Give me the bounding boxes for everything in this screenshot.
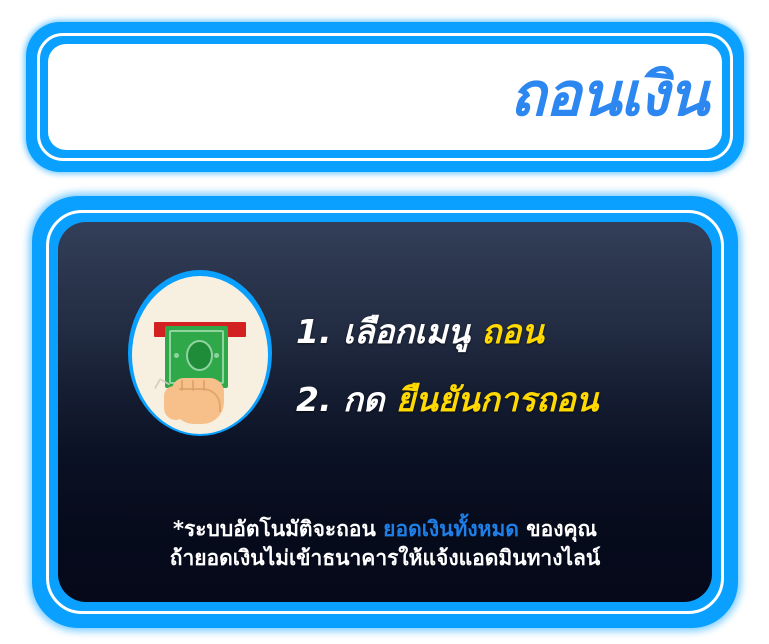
steps-list: 1. เลือกเมนู ถอน 2. กด ยืนยันการถอน <box>296 314 692 419</box>
step-item-1: 1. เลือกเมนู ถอน <box>296 314 692 350</box>
step-item-2: 2. กด ยืนยันการถอน <box>296 382 692 418</box>
footnote-line-1: *ระบบอัตโนมัติจะถอน ยอดเงินทั้งหมด ของคุ… <box>58 515 712 543</box>
page-title: ถอนเงิน <box>510 65 708 125</box>
icon-disc <box>132 276 268 434</box>
footnote: *ระบบอัตโนมัติจะถอน ยอดเงินทั้งหมด ของคุ… <box>58 515 712 572</box>
footnote-suffix: ของคุณ <box>526 517 597 541</box>
step-2-highlight: ยืนยันการถอน <box>396 380 598 419</box>
step-2-text: กด <box>343 380 384 419</box>
atm-cash-withdraw-icon <box>128 270 272 436</box>
instructions-card: 1. เลือกเมนู ถอน 2. กด ยืนยันการถอน *ระบ… <box>32 196 738 628</box>
banknote-dot-right <box>214 353 219 358</box>
palm-curve <box>179 388 221 412</box>
header-banner: ถอนเงิน <box>26 22 744 172</box>
step-1-highlight: ถอน <box>481 312 543 351</box>
header-title-field: ถอนเงิน <box>48 44 722 150</box>
footnote-line-2: ถ้ายอดเงินไม่เข้าธนาคารให้แจ้งแอดมินทางไ… <box>58 544 712 572</box>
step-1-number: 1. <box>296 312 332 351</box>
footnote-prefix: *ระบบอัตโนมัติจะถอน <box>173 517 376 541</box>
banknote-oval <box>186 340 213 371</box>
footnote-highlight: ยอดเงินทั้งหมด <box>383 517 519 541</box>
banknote-dot-left <box>174 353 179 358</box>
step-2-number: 2. <box>296 380 332 419</box>
card-body: 1. เลือกเมนู ถอน 2. กด ยืนยันการถอน *ระบ… <box>58 222 712 602</box>
step-1-text: เลือกเมนู <box>343 312 470 351</box>
